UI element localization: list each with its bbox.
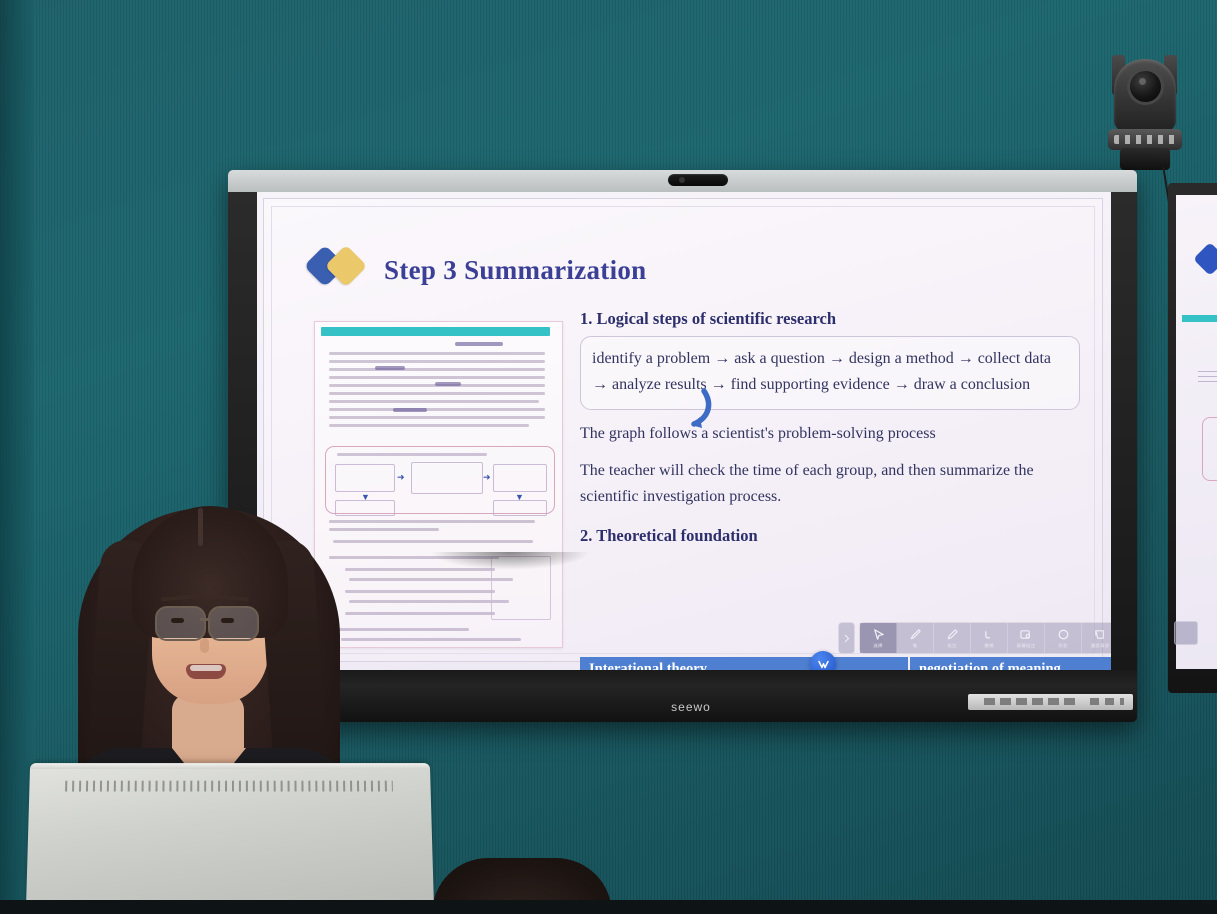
steps-box: identify a problem → ask a question → de… [580, 336, 1080, 410]
select-tool-button[interactable]: 选择 [860, 623, 897, 653]
display-mount-shadow [430, 552, 590, 570]
select-tool-label: 选择 [873, 643, 882, 648]
seewo-assistant-button[interactable] [810, 651, 836, 670]
toolbar-expand-button[interactable] [838, 622, 855, 654]
undo-tool-label: 撤销 [984, 643, 993, 648]
display-screen: Step 3 Summarization [257, 192, 1111, 670]
laptop [28, 762, 432, 914]
shape-tool-button[interactable]: 形状 [1045, 623, 1082, 653]
secondary-screen [1176, 195, 1217, 669]
chevron-right-icon [843, 634, 850, 643]
screenshot-tool-button[interactable]: 屏幕批注 [1008, 623, 1045, 653]
secondary-diamond-icon [1193, 242, 1217, 276]
steps-line-2: → analyze results → find supporting evid… [592, 372, 1068, 398]
worksheet-teal-header [321, 327, 550, 336]
clear-tool-label: 漫游清屏 [1091, 643, 1110, 648]
secondary-display [1168, 183, 1217, 693]
steps-line-1: identify a problem → ask a question → de… [592, 346, 1068, 372]
teeth [190, 665, 222, 671]
clear-tool-button[interactable]: 漫游清屏 [1082, 623, 1111, 653]
table-header-theory: Interational theory [580, 657, 909, 670]
interactive-whiteboard-display: Step 3 Summarization [228, 170, 1137, 722]
undo-tool-button[interactable]: 撤销 [971, 623, 1008, 653]
capture-icon [1018, 627, 1035, 642]
page-title: Step 3 Summarization [384, 255, 647, 286]
slide-title-row: Step 3 Summarization [310, 251, 647, 289]
pen-tool-button[interactable]: 笔 [897, 623, 934, 653]
heading-logical-steps: 1. Logical steps of scientific research [580, 309, 1080, 329]
display-webcam-icon [668, 174, 728, 186]
undo-icon [981, 627, 998, 642]
display-top-bezel [228, 170, 1137, 192]
paragraph-teacher-check: The teacher will check the time of each … [580, 458, 1080, 510]
marker-icon [944, 627, 961, 642]
whiteboard-toolbar[interactable]: 选择 笔 批注 [838, 622, 1111, 654]
circle-icon [1055, 627, 1072, 642]
laptop-lid [26, 763, 434, 914]
bezel-buttons-right[interactable] [1090, 698, 1124, 705]
secondary-text-lines [1198, 371, 1217, 385]
pen-icon [907, 627, 924, 642]
display-brand-label: seewo [636, 700, 746, 718]
slide-main-content: 1. Logical steps of scientific research … [580, 309, 1080, 553]
glasses-lens-left [155, 606, 206, 641]
heading-theoretical-foundation: 2. Theoretical foundation [580, 526, 1080, 546]
toolbar-tools-group[interactable]: 选择 笔 批注 [859, 622, 1111, 654]
laptop-vent-grille [65, 781, 393, 792]
seewo-logo-icon [816, 657, 831, 671]
laptop-lid-edge [30, 763, 430, 769]
highlighter-tool-button[interactable]: 批注 [934, 623, 971, 653]
paragraph-graph-process: The graph follows a scientist's problem-… [580, 421, 1080, 447]
slide-logo [310, 251, 368, 289]
clear-icon [1092, 627, 1109, 642]
theory-table: Interational theory negotiation of meani… [580, 657, 1111, 670]
shape-tool-label: 形状 [1058, 643, 1067, 648]
hair-parting [198, 508, 203, 546]
glasses-bridge [200, 618, 210, 621]
camera-head [1114, 59, 1176, 131]
desk-surface [0, 900, 1217, 914]
glasses-lens-right [208, 606, 259, 641]
ptz-camera-icon [1106, 55, 1184, 170]
bezel-buttons-left[interactable] [984, 698, 1076, 705]
nose [200, 638, 209, 653]
highlighter-tool-label: 批注 [947, 643, 956, 648]
secondary-rounded-box [1202, 417, 1217, 481]
table-header-concept: negotiation of meaning [909, 657, 1111, 670]
pen-tool-label: 笔 [913, 643, 918, 648]
screenshot-tool-label: 屏幕批注 [1017, 643, 1036, 648]
presentation-slide: Step 3 Summarization [263, 198, 1103, 662]
classroom-scene: Step 3 Summarization [0, 0, 1217, 914]
eye-left [171, 618, 184, 623]
camera-mic-array [1114, 135, 1176, 144]
camera-lens-icon [1130, 71, 1161, 102]
secondary-toolbar-button[interactable] [1174, 621, 1198, 645]
eye-right [221, 618, 234, 623]
secondary-teal-bar [1182, 315, 1217, 322]
cursor-icon [870, 627, 887, 642]
table-row: Interational theory negotiation of meani… [580, 657, 1111, 670]
